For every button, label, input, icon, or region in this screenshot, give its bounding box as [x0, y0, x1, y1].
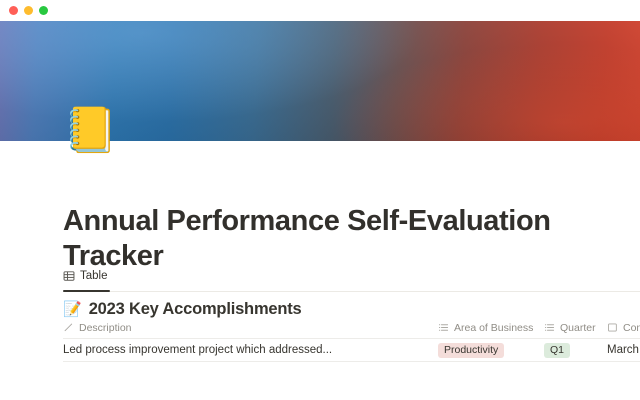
window-titlebar [0, 0, 640, 21]
cell-description[interactable]: Led process improvement project which ad… [63, 339, 438, 361]
table-header-row: Description Area of Business [63, 317, 640, 339]
column-header-completion-label: Com [623, 322, 640, 334]
tab-table[interactable]: Table [63, 265, 110, 287]
column-header-description[interactable]: Description [63, 317, 438, 338]
maximize-window-icon[interactable] [39, 6, 48, 15]
tag-quarter: Q1 [544, 343, 570, 358]
app-window: 📒 Annual Performance Self-Evaluation Tra… [0, 0, 640, 400]
cell-completion-date-text: March 7 [607, 344, 640, 356]
text-property-icon [63, 322, 74, 333]
table-row[interactable]: Led process improvement project which ad… [63, 339, 640, 362]
column-header-area-of-business[interactable]: Area of Business [438, 317, 544, 338]
checkbox-property-icon [607, 322, 618, 333]
column-header-quarter-label: Quarter [560, 322, 596, 334]
column-header-completion[interactable]: Com [607, 317, 640, 338]
minimize-window-icon[interactable] [24, 6, 33, 15]
cell-description-text: Led process improvement project which ad… [63, 344, 332, 356]
cell-completion-date[interactable]: March 7 [607, 339, 640, 361]
view-tabs: Table [63, 265, 640, 292]
cell-quarter[interactable]: Q1 [544, 339, 607, 361]
close-window-icon[interactable] [9, 6, 18, 15]
memo-emoji: 📝 [63, 301, 82, 319]
column-header-area-of-business-label: Area of Business [454, 322, 533, 334]
active-tab-indicator [63, 290, 110, 292]
tab-table-label: Table [80, 270, 108, 282]
view-tabs-row: Table [63, 265, 640, 287]
database-table: Description Area of Business [63, 317, 640, 362]
table-icon [63, 270, 75, 282]
column-header-quarter[interactable]: Quarter [544, 317, 607, 338]
traffic-light-controls [9, 6, 48, 15]
cell-area-of-business[interactable]: Productivity [438, 339, 544, 361]
tag-area-of-business: Productivity [438, 343, 504, 358]
page-title[interactable]: Annual Performance Self-Evaluation Track… [63, 204, 563, 274]
select-property-icon [438, 322, 449, 333]
view-tabs-underline [63, 291, 640, 292]
select-property-icon [544, 322, 555, 333]
column-header-description-label: Description [79, 322, 132, 334]
page-icon[interactable]: 📒 [63, 104, 117, 158]
